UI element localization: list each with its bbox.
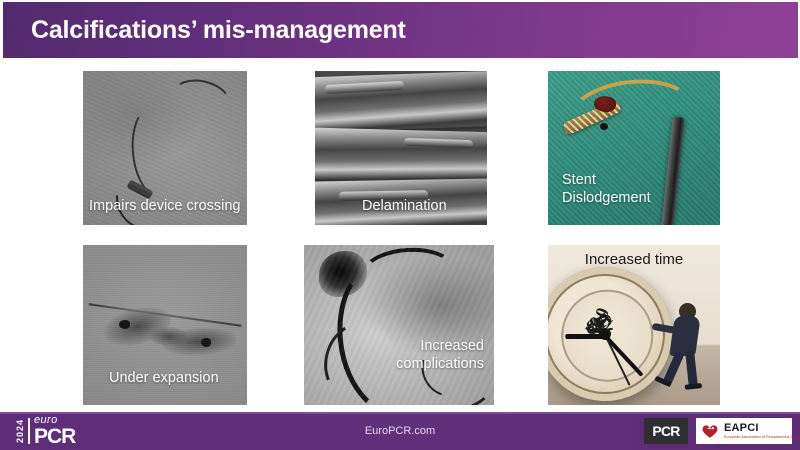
clock-numeral: 12 [593,314,614,337]
coronary-branch [315,314,396,405]
panel-under-expansion[interactable]: Under expansion [83,245,247,405]
panel-impairs-device-crossing[interactable]: Impairs device crossing [83,71,247,225]
panel-caption: Stent Dislodgement [562,171,651,207]
panel-caption: Delamination [362,197,447,215]
angiogram-perforation-image [304,245,494,405]
panel-caption: Increased complications [396,337,484,373]
pcr-logo-badge: PCR [644,418,688,444]
clock-photo: 123456789101112 [548,245,720,405]
slide-header: Calcifications’ mis-management [3,2,798,58]
coronary-vessel [328,251,459,405]
guidewire-segment [127,103,187,202]
eapci-logo-subtitle: European Association of Percutaneous Car… [724,436,800,440]
panel-caption: Impairs device crossing [89,197,241,215]
image-grid: Impairs device crossing Delamination Ste… [0,58,800,412]
figure-leg [662,351,684,386]
slide-footer: 2024 euro PCR EuroPCR.com PCR EAPCI Euro… [0,412,800,450]
stent-segment [99,301,174,352]
pcr-logo-text: PCR [652,423,679,439]
eapci-logo-badge: EAPCI European Association of Percutaneo… [696,418,792,444]
panel-increased-complications[interactable]: Increased complications [304,245,494,405]
stent-segment [161,326,238,358]
coronary-vessel [359,245,456,299]
businessman-figure [652,303,698,389]
panel-stent-dislodgement[interactable]: Stent Dislodgement [548,71,720,225]
figure-shoe [684,383,701,390]
figure-shoe [654,376,672,387]
panel-increased-time[interactable]: 123456789101112 Increased time [548,245,720,405]
stent-segment [149,327,188,346]
heart-icon [701,422,719,440]
panel-delamination[interactable]: Delamination [315,71,487,225]
footer-divider [0,412,800,414]
radiopaque-marker [201,338,211,347]
eapci-logo-text: EAPCI [724,423,800,434]
contrast-extravasation [319,251,367,297]
guidewire-segment [164,74,236,132]
figure-torso [669,316,701,356]
panel-caption: Increased time [548,251,720,269]
figure-leg [685,351,698,388]
guidewire [89,303,242,326]
blood-spot [600,123,608,130]
radiopaque-marker [119,320,130,329]
panel-caption: Under expansion [109,369,219,387]
page-title: Calcifications’ mis-management [31,16,406,45]
stent-strut-band [315,127,487,185]
